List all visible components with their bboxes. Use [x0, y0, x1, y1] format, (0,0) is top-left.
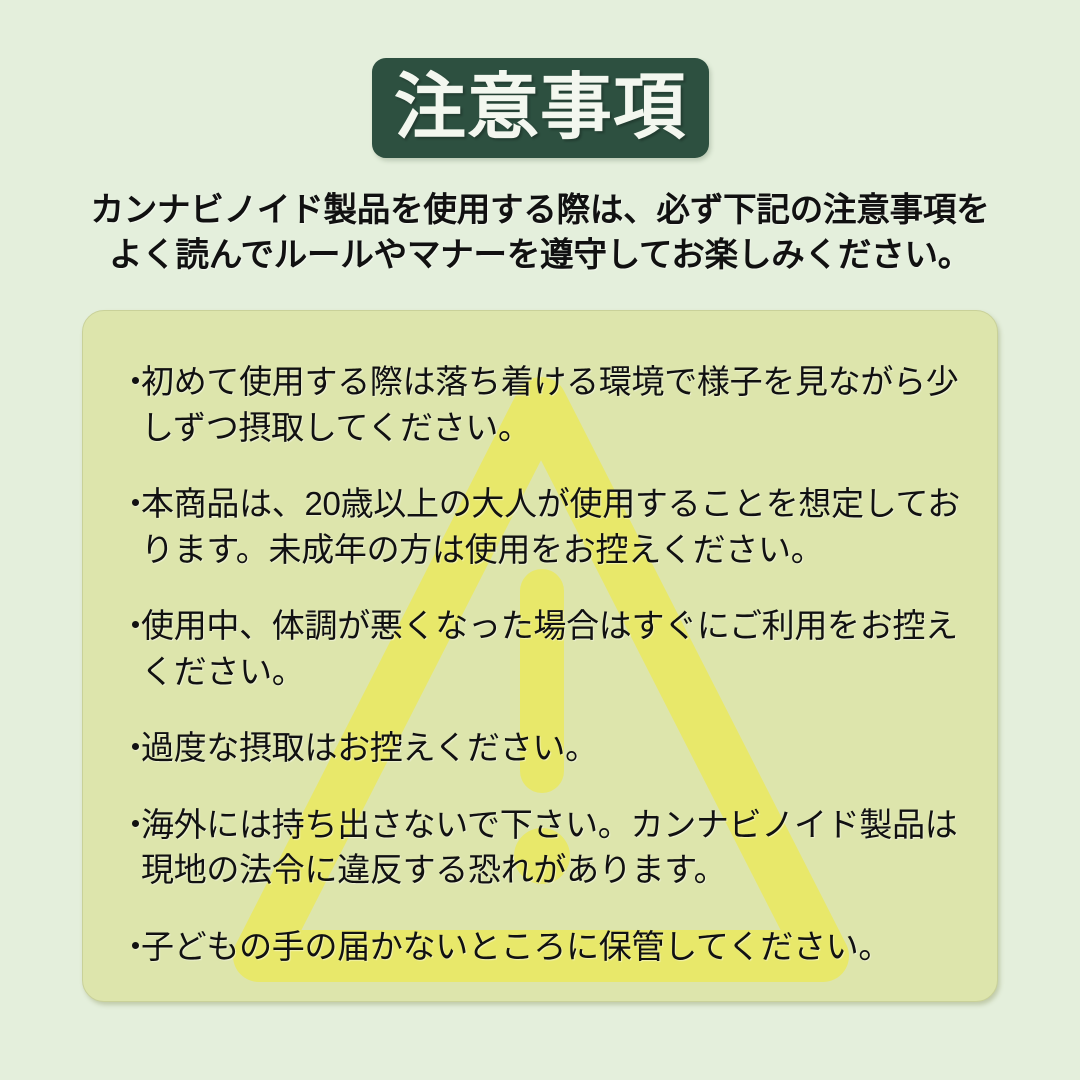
list-item-text: 初めて使用する際は落ち着ける環境で様子を見ながら少しずつ摂取してください。: [141, 359, 981, 450]
list-item-text: 海外には持ち出さないで下さい。カンナビノイド製品は現地の法令に違反する恐れがあり…: [141, 802, 981, 893]
subtitle-line-1: カンナビノイド製品を使用する際は、必ず下記の注意事項を: [0, 188, 1080, 233]
list-item: ・ 海外には持ち出さないで下さい。カンナビノイド製品は現地の法令に違反する恐れが…: [119, 802, 981, 893]
list-item-text: 子どもの手の届かないところに保管してください。: [141, 924, 981, 970]
list-item: ・ 使用中、体調が悪くなった場合はすぐにご利用をお控えください。: [119, 603, 981, 694]
list-item-text: 過度な摂取はお控えください。: [141, 725, 981, 771]
subtitle: カンナビノイド製品を使用する際は、必ず下記の注意事項を よく読んでルールやマナー…: [0, 188, 1080, 278]
list-item-text: 本商品は、20歳以上の大人が使用することを想定しております。未成年の方は使用をお…: [141, 481, 981, 572]
bullet-icon: ・: [119, 725, 141, 771]
notice-page: 注意事項 カンナビノイド製品を使用する際は、必ず下記の注意事項を よく読んでルー…: [0, 0, 1080, 1080]
bullet-icon: ・: [119, 802, 141, 848]
list-item: ・ 過度な摂取はお控えください。: [119, 725, 981, 771]
list-item: ・ 初めて使用する際は落ち着ける環境で様子を見ながら少しずつ摂取してください。: [119, 359, 981, 450]
list-item-text: 使用中、体調が悪くなった場合はすぐにご利用をお控えください。: [141, 603, 981, 694]
subtitle-line-2: よく読んでルールやマナーを遵守してお楽しみください。: [0, 233, 1080, 278]
list-item: ・ 子どもの手の届かないところに保管してください。: [119, 924, 981, 970]
bullet-icon: ・: [119, 603, 141, 649]
notice-card: ・ 初めて使用する際は落ち着ける環境で様子を見ながら少しずつ摂取してください。 …: [82, 310, 998, 1002]
bullet-icon: ・: [119, 924, 141, 970]
list-item: ・ 本商品は、20歳以上の大人が使用することを想定しております。未成年の方は使用…: [119, 481, 981, 572]
bullet-icon: ・: [119, 481, 141, 527]
title-badge: 注意事項: [372, 58, 709, 158]
bullet-icon: ・: [119, 359, 141, 405]
title-badge-wrap: 注意事項: [0, 58, 1080, 158]
page-title: 注意事項: [394, 72, 686, 144]
notice-list: ・ 初めて使用する際は落ち着ける環境で様子を見ながら少しずつ摂取してください。 …: [83, 311, 998, 1002]
